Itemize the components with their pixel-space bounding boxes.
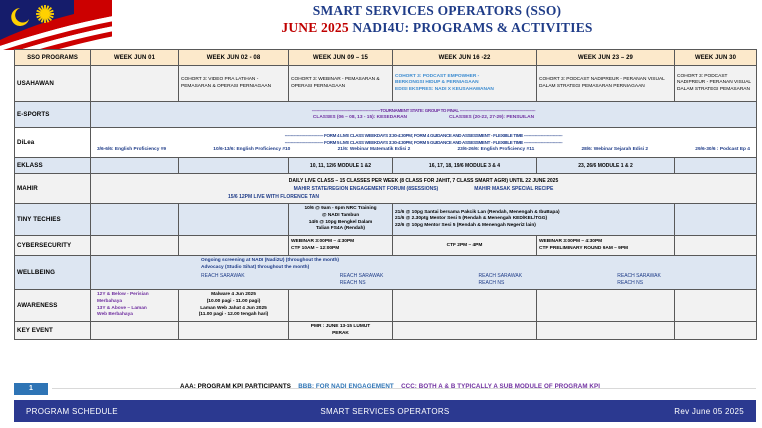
page-subtitle: JUNE 2025 NADI4U: PROGRAMS & ACTIVITIES [112,19,762,37]
table-row-mahir: MAHIR DAILY LIVE CLASS – 15 CLASSES PER … [15,174,757,204]
cell-eklass-w5: 23, 26/6 MODULE 1 & 2 [537,158,675,174]
dilea-item-2: 10/6-13/6: English Proficiency #10 [211,146,292,154]
wellbeing-reach-ns-4: REACH NS [617,280,756,287]
mahir-masak-special-recipe: MAHIR MASAK SPECIAL RECIPE [474,185,553,193]
wellbeing-reach-sarawak-3: REACH SARAWAK [479,273,618,280]
cell-eklass-w3: 10, 11, 12/6 MODULE 1 &2 [289,158,393,174]
dilea-item-6: 29/6-30/6 : Podcast Ep 4 [693,146,752,154]
table-row-wellbeing: WELLBEING Ongoing screening at NADI (Nad… [15,256,757,290]
tiny-techies-w3-line4: Talian FS4A (Rendah) [291,226,390,233]
schedule-table: SSO PROGRAMS WEEK JUN 01 WEEK JUN 02 - 0… [14,49,757,340]
table-row-key-event: KEY EVENT PMR : JUNE 13-15 LUMUT PERAK [15,322,757,340]
cell-awareness-w4 [393,290,537,322]
cell-key-event-w3: PMR : JUNE 13-15 LUMUT PERAK [289,322,393,340]
tiny-techies-w3-line1: 10/6 @ 9am - 6pm NRC Training [291,206,390,213]
row-label-dilea: DiLea [15,128,91,158]
col-header-week-jun-16-22: WEEK JUN 16 -22 [393,50,537,66]
col-header-sso-programs: SSO PROGRAMS [15,50,91,66]
col-header-week-jun-23-29: WEEK JUN 23 – 29 [537,50,675,66]
row-label-eklass: EKLASS [15,158,91,174]
mahir-live-florence-tan: 15/6 12PM LIVE WITH FLORENCE TAN [93,193,754,201]
page-title-block: SMART SERVICES OPERATORS (SSO) JUNE 2025… [112,2,762,48]
wellbeing-screening: Ongoing screening at NADI (Nadi2U) (thro… [201,257,756,264]
row-label-esports: E-SPORTS [15,102,91,128]
cell-usahawan-w4: COHORT 3: PODCAST EMPOWHER - BERKONGSI H… [393,66,537,102]
page-footer: PROGRAM SCHEDULE SMART SERVICES OPERATOR… [14,400,756,422]
table-row-esports: E-SPORTS -------------------------------… [15,102,757,128]
awareness-w1-line2: Merbahaya [97,299,176,306]
awareness-w1-line4: Web Berbahaya [97,312,176,319]
cell-cyber-w4: CTF 2PM – 4PM [393,236,537,256]
wellbeing-reach-ns-2: REACH NS [340,280,479,287]
tiny-techies-w3-line2: @ NADI Tambun [291,213,390,220]
mahir-engagement-forum: MAHIR STATE/REGION ENGAGEMENT FORUM (8SE… [294,185,439,193]
row-label-wellbeing: WELLBEING [15,256,91,290]
table-row-dilea: DiLea -------------------------------- F… [15,128,757,158]
row-label-tiny-techies: TINY TECHIES [15,204,91,236]
footer-center-label: SMART SERVICES OPERATORS [14,407,756,416]
col-header-week-jun-09-15: WEEK JUN 09 – 15 [289,50,393,66]
dilea-item-4: 23/6-26/6: English Proficiency #11 [455,146,536,154]
cyber-w5-webinar: WEBINAR 3:00PM – 4:30PM [539,239,672,246]
cell-eklass-w6 [675,158,757,174]
row-label-usahawan: USAHAWAN [15,66,91,102]
cell-cyber-w3: WEBINAR 3:00PM – 4:30PM CTF 10AM – 12:00… [289,236,393,256]
key-event-pmr-line1: PMR : JUNE 13-15 LUMUT [291,324,390,331]
cell-wellbeing-span: Ongoing screening at NADI (Nadi2U) (thro… [91,256,757,290]
cyber-w5-ctf: CTF PRELIMINARY ROUND 9AM – 9PM [539,246,672,253]
footer-revision-label: Rev June 05 2025 [674,407,744,416]
esports-classes-pensuilan: CLASSES (20-22, 27-29): PENSUILAN [449,114,534,122]
esports-classes-kesedaran: CLASSES (06 – 08, 13 - 15): KESEDARAN [313,114,407,122]
cyber-w3-webinar: WEBINAR 3:00PM – 4:30PM [291,239,390,246]
key-event-pmr-line2: PERAK [291,331,390,338]
dilea-form4-line: -------------------------------- FORM 4 … [95,132,752,139]
cell-cyber-w1 [91,236,179,256]
row-label-cybersecurity: CYBERSECURITY [15,236,91,256]
page-subtitle-month: JUNE 2025 [281,20,352,35]
dilea-item-3: 21/6: Webinar Matematik Edisi 2 [336,146,413,154]
cell-tiny-techies-w3: 10/6 @ 9am - 6pm NRC Training @ NADI Tam… [289,204,393,236]
col-header-week-jun-02-08: WEEK JUN 02 - 08 [179,50,289,66]
table-header-row: SSO PROGRAMS WEEK JUN 01 WEEK JUN 02 - 0… [15,50,757,66]
tiny-techies-w4-line3: 22/6 @ 10pg Mentor Sesi 5 (Rendah & Mene… [395,223,672,230]
cell-usahawan-w4-line2: BERKONGSI HIDUP & PERNIAGAAN [395,80,534,87]
col-header-week-jun-01: WEEK JUN 01 [91,50,179,66]
table-row-usahawan: USAHAWAN COHORT 3: VIDEO PRA LATIHAN - P… [15,66,757,102]
wellbeing-reach-sarawak-4: REACH SARAWAK [617,273,756,280]
row-label-awareness: AWARENESS [15,290,91,322]
table-row-cybersecurity: CYBERSECURITY WEBINAR 3:00PM – 4:30PM CT… [15,236,757,256]
cell-esports-span: ----------------------------------------… [91,102,757,128]
cell-tiny-techies-w4: 21/6 @ 10pg Santai bersama Pakcik Lan (R… [393,204,675,236]
dilea-form5-line: -------------------------------- FORM 5 … [95,139,752,146]
wellbeing-reach-sarawak-2: REACH SARAWAK [340,273,479,280]
cell-awareness-w1: 12Y & Below - Perisian Merbahaya 13Y & A… [91,290,179,322]
cell-mahir-span: DAILY LIVE CLASS – 15 CLASSES PER WEEK (… [91,174,757,204]
cell-usahawan-w1 [91,66,179,102]
table-row-tiny-techies: TINY TECHIES 10/6 @ 9am - 6pm NRC Traini… [15,204,757,236]
legend-badge: 1 [14,383,48,395]
cell-usahawan-w5: COHORT 3: PODCAST NADIPREUR - PERANAN VI… [537,66,675,102]
awareness-w2-line1: Malware 4 Jun 2025 [181,292,286,299]
table-row-eklass: EKLASS 10, 11, 12/6 MODULE 1 &2 16, 17, … [15,158,757,174]
cell-eklass-w1 [91,158,179,174]
malaysia-flag [0,0,112,50]
wellbeing-advocacy: Advocacy (Studio Sihat) throughout the m… [201,264,756,271]
cyber-w3-ctf: CTF 10AM – 12:00PM [291,246,390,253]
awareness-w2-line2: (10.00 pagi - 11.00 pagi) [181,299,286,306]
esports-tournament-state: ----------------------------------------… [93,107,754,114]
cell-tiny-techies-w2 [179,204,289,236]
page-subtitle-rest: NADI4U: PROGRAMS & ACTIVITIES [352,20,592,35]
table-row-awareness: AWARENESS 12Y & Below - Perisian Merbaha… [15,290,757,322]
dilea-item-1: 3/6-6/6: English Proficiency #9 [95,146,168,154]
cell-cyber-w6 [675,236,757,256]
cell-usahawan-w4-line3: EDISI EKSPRES: NADI X KEUSAHAWANAN [395,87,534,94]
cell-awareness-w2: Malware 4 Jun 2025 (10.00 pagi - 11.00 p… [179,290,289,322]
cell-awareness-w6 [675,290,757,322]
cell-key-event-w4 [393,322,537,340]
footer-left-label: PROGRAM SCHEDULE [26,407,118,416]
cell-cyber-w5: WEBINAR 3:00PM – 4:30PM CTF PRELIMINARY … [537,236,675,256]
cell-usahawan-w6: COHORT 3: PODCAST NADIPREUR - PERANAN VI… [675,66,757,102]
tiny-techies-w4-line2: 21/6 @ 2.30ptg Mentor Sesi 5 (Rendah & M… [395,216,672,223]
cell-key-event-w2 [179,322,289,340]
legend-key-aaa: AAA: PROGRAM KPI PARTICIPANTS [180,383,291,390]
cell-usahawan-w3: COHORT 3: WEBINAR - PEMASARAN & OPERASI … [289,66,393,102]
wellbeing-reach-sarawak-1: REACH SARAWAK [201,273,340,280]
wellbeing-reach-ns-3: REACH NS [479,280,618,287]
col-header-week-jun-30: WEEK JUN 30 [675,50,757,66]
awareness-w2-line4: (11.00 pagi - 12.00 tengah hari) [181,312,286,319]
cell-cyber-w2 [179,236,289,256]
cell-key-event-w1 [91,322,179,340]
cell-eklass-w4: 16, 17, 18, 19/6 MODULE 3 & 4 [393,158,537,174]
cell-key-event-w6 [675,322,757,340]
cell-tiny-techies-w6 [675,204,757,236]
page-title: SMART SERVICES OPERATORS (SSO) [112,2,762,19]
cell-usahawan-w2: COHORT 3: VIDEO PRA LATIHAN - PEMASARAN … [179,66,289,102]
awareness-w1-line1: 12Y & Below - Perisian [97,292,176,299]
cell-awareness-w5 [537,290,675,322]
legend-text: AAA: PROGRAM KPI PARTICIPANTS BBB: FOR N… [180,383,600,390]
cell-awareness-w3 [289,290,393,322]
legend-key-bbb: BBB: FOR NADI ENGAGEMENT [298,383,394,390]
row-label-key-event: KEY EVENT [15,322,91,340]
cell-key-event-w5 [537,322,675,340]
cell-dilea-span: -------------------------------- FORM 4 … [91,128,757,158]
mahir-daily-live-class: DAILY LIVE CLASS – 15 CLASSES PER WEEK (… [93,177,754,185]
cell-eklass-w2 [179,158,289,174]
cell-tiny-techies-w1 [91,204,179,236]
dilea-item-5: 28/6: Webinar Sejarah Edisi 2 [580,146,651,154]
row-label-mahir: MAHIR [15,174,91,204]
legend-key-ccc: CCC: BOTH A & B TYPICALLY A SUB MODULE O… [401,383,600,390]
